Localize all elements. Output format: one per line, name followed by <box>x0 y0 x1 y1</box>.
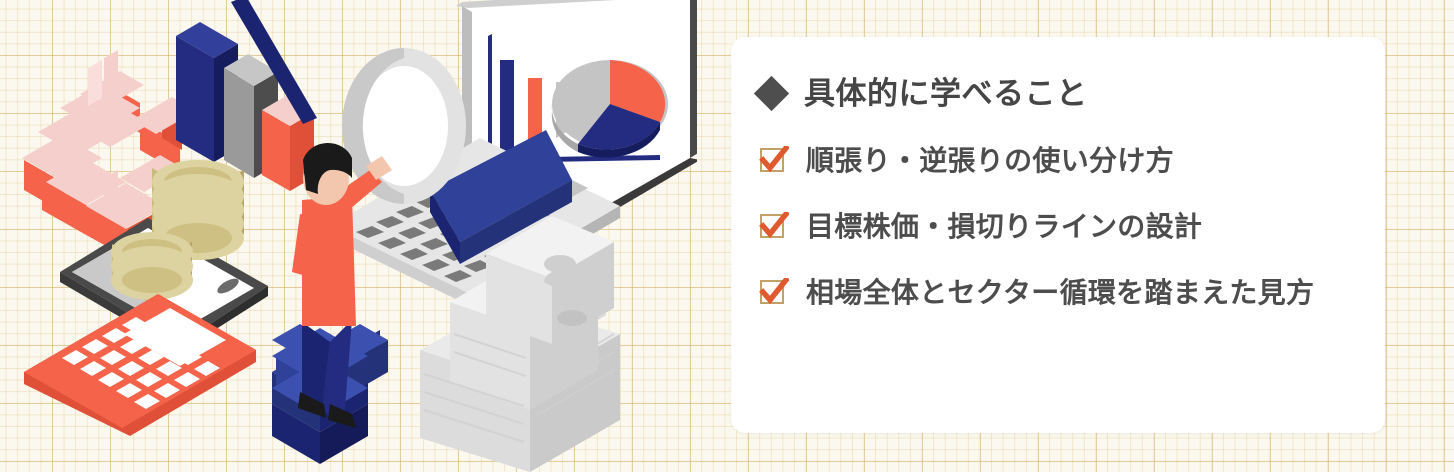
person-analyst <box>292 143 392 428</box>
list-item-text: 順張り・逆張りの使い分け方 <box>806 142 1174 180</box>
checkbox-checked-icon <box>759 278 789 308</box>
list-item: 順張り・逆張りの使い分け方 <box>759 142 1351 180</box>
isometric-finance-illustration <box>0 0 697 472</box>
list-item: 目標株価・損切りラインの設計 <box>759 208 1351 246</box>
card-heading: 具体的に学べること <box>759 75 1351 112</box>
coin-stack-short <box>111 232 193 304</box>
card-heading-text: 具体的に学べること <box>804 75 1088 112</box>
list-item: 相場全体とセクター循環を踏まえた見方 <box>759 274 1351 312</box>
list-item-text: 目標株価・損切りラインの設計 <box>806 208 1202 246</box>
diamond-icon <box>754 76 789 111</box>
screenshot-root: 具体的に学べること 順張り・逆張りの使い分け方 目標 <box>0 0 1454 472</box>
learning-points-card: 具体的に学べること 順張り・逆張りの使い分け方 目標 <box>731 37 1385 433</box>
checkbox-checked-icon <box>759 146 789 176</box>
checkbox-checked-icon <box>759 212 789 242</box>
list-item-text: 相場全体とセクター循環を踏まえた見方 <box>806 274 1314 312</box>
